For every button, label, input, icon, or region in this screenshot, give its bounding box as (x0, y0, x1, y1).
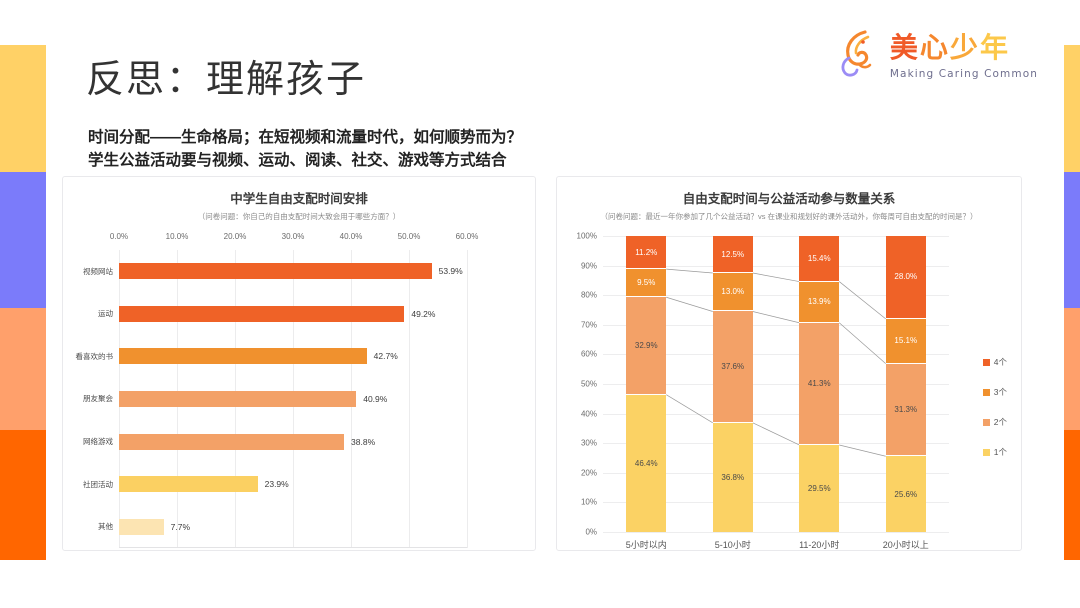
edge-block-1 (0, 45, 46, 172)
right-chart-segment: 11.2% (626, 236, 666, 269)
left-chart-category-label: 网络游戏 (83, 436, 113, 447)
legend-label: 1个 (994, 446, 1007, 458)
right-chart-subtitle: （问卷问题：最近一年你参加了几个公益活动？vs 在课业和规划好的课外活动外，你每… (557, 211, 1021, 222)
left-chart-rows: 视频网站53.9%运动49.2%看喜欢的书42.7%朋友聚会40.9%网络游戏3… (119, 250, 467, 548)
left-chart-category-label: 其他 (98, 521, 113, 532)
subtitle-line-2: 学生公益活动要与视频、运动、阅读、社交、游戏等方式结合 (88, 149, 522, 172)
left-chart-category-label: 视频网站 (83, 266, 113, 277)
right-chart-x-labels: 5小时以内5-10小时11-20小时20小时以上 (603, 538, 949, 551)
right-chart-ytick: 70% (581, 320, 597, 329)
left-chart-title: 中学生自由支配时间安排 (63, 188, 535, 207)
right-chart-segment: 37.6% (713, 311, 753, 422)
left-chart-xtick: 0.0% (110, 232, 128, 241)
flame-dragon-icon (835, 28, 883, 78)
left-chart-category-label: 看喜欢的书 (76, 351, 114, 362)
right-chart-segment: 13.0% (713, 273, 753, 311)
legend-label: 3个 (994, 386, 1007, 398)
right-chart-stacked-bar: 11.2%9.5%32.9%46.4% (626, 236, 666, 532)
right-chart-category-label: 20小时以上 (866, 538, 946, 551)
left-chart-value-label: 40.9% (363, 394, 387, 404)
legend-item-3个[interactable]: 3个 (983, 386, 1007, 398)
right-chart-category-label: 11-20小时 (779, 538, 859, 551)
legend-item-2个[interactable]: 2个 (983, 416, 1007, 428)
right-chart-gridline (603, 532, 949, 533)
right-chart-title: 自由支配时间与公益活动参与数量关系 (557, 188, 1021, 207)
right-chart-ytick: 30% (581, 439, 597, 448)
right-chart-segment: 29.5% (799, 445, 839, 532)
logo-char-3: 少 (950, 26, 979, 66)
left-chart-xtick: 50.0% (398, 232, 421, 241)
right-chart-segment: 31.3% (886, 364, 926, 457)
right-chart-segment: 28.0% (886, 236, 926, 319)
right-chart-category-label: 5小时以内 (606, 538, 686, 551)
right-chart-column: 15.4%13.9%41.3%29.5% (779, 236, 859, 532)
left-chart-bar (119, 348, 367, 364)
left-chart-bar (119, 476, 258, 492)
left-chart-bar-row: 视频网站53.9% (119, 250, 467, 293)
left-chart-subtitle: （问卷问题：你自己的自由支配时间大致会用于哪些方面？） (63, 211, 535, 222)
edge-block-3 (1064, 308, 1080, 430)
legend-label: 2个 (994, 416, 1007, 428)
right-chart-segment: 15.1% (886, 319, 926, 364)
edge-block-1 (1064, 45, 1080, 172)
left-chart-xtick: 20.0% (224, 232, 247, 241)
edge-block-2 (0, 172, 46, 308)
subtitle-line-1: 时间分配——生命格局；在短视频和流量时代，如何顺势而为？ (88, 126, 522, 149)
logo-char-2: 心 (920, 26, 949, 66)
right-chart-ytick: 0% (585, 528, 597, 537)
left-chart-value-label: 42.7% (374, 351, 398, 361)
edge-block-2 (1064, 172, 1080, 308)
page-subtitle: 时间分配——生命格局；在短视频和流量时代，如何顺势而为？ 学生公益活动要与视频、… (88, 126, 522, 172)
right-chart-bars: 11.2%9.5%32.9%46.4%12.5%13.0%37.6%36.8%1… (603, 236, 949, 532)
legend-swatch-icon (983, 419, 990, 426)
right-chart-stacked-bar: 15.4%13.9%41.3%29.5% (799, 236, 839, 532)
brand-logo: 美心少年 Making Caring Common (835, 26, 1038, 80)
legend-label: 4个 (994, 356, 1007, 368)
right-chart-stacked-bar: 12.5%13.0%37.6%36.8% (713, 236, 753, 532)
chart-card-time-allocation: 中学生自由支配时间安排 （问卷问题：你自己的自由支配时间大致会用于哪些方面？） … (62, 176, 536, 551)
logo-char-4: 年 (980, 26, 1009, 66)
right-chart-ytick: 60% (581, 350, 597, 359)
left-chart-bar (119, 306, 404, 322)
edge-block-3 (0, 308, 46, 430)
legend-swatch-icon (983, 359, 990, 366)
left-chart-gridline (467, 250, 468, 548)
right-chart-ytick: 10% (581, 498, 597, 507)
chart-card-participation: 自由支配时间与公益活动参与数量关系 （问卷问题：最近一年你参加了几个公益活动？v… (556, 176, 1022, 551)
left-chart-bar-row: 网络游戏38.8% (119, 420, 467, 463)
right-chart-bars-host: 11.2%9.5%32.9%46.4%12.5%13.0%37.6%36.8%1… (603, 236, 949, 532)
left-chart-value-label: 53.9% (439, 266, 463, 276)
legend-item-4个[interactable]: 4个 (983, 356, 1007, 368)
logo-char-1: 美 (890, 26, 919, 66)
right-chart-stacked-bar: 28.0%15.1%31.3%25.6% (886, 236, 926, 532)
right-chart-ytick: 50% (581, 380, 597, 389)
legend-swatch-icon (983, 449, 990, 456)
right-chart-segment: 46.4% (626, 395, 666, 532)
legend-swatch-icon (983, 389, 990, 396)
left-chart-value-label: 23.9% (265, 479, 289, 489)
right-chart-plot: 0%10%20%30%40%50%60%70%80%90%100% 11.2%9… (563, 230, 1011, 560)
page-title: 反思：理解孩子 (86, 48, 366, 103)
left-chart-plot: 0.0%10.0%20.0%30.0%40.0%50.0%60.0% 视频网站5… (67, 232, 523, 552)
edge-block-4 (1064, 430, 1080, 560)
right-chart-segment: 36.8% (713, 423, 753, 532)
right-chart-ytick: 20% (581, 468, 597, 477)
left-chart-bar-row: 看喜欢的书42.7% (119, 335, 467, 378)
logo-chinese: 美心少年 (890, 26, 1009, 66)
left-chart-bar (119, 391, 356, 407)
left-chart-value-label: 49.2% (411, 309, 435, 319)
right-chart-segment: 15.4% (799, 236, 839, 282)
right-chart-segment: 9.5% (626, 269, 666, 297)
right-chart-ytick: 90% (581, 261, 597, 270)
slide-root: 反思：理解孩子 时间分配——生命格局；在短视频和流量时代，如何顺势而为？ 学生公… (0, 0, 1080, 608)
left-chart-value-label: 38.8% (351, 437, 375, 447)
left-chart-xtick: 40.0% (340, 232, 363, 241)
left-chart-bar-row: 社团活动23.9% (119, 463, 467, 506)
left-chart-x-axis: 0.0%10.0%20.0%30.0%40.0%50.0%60.0% (119, 232, 467, 248)
right-chart-segment: 41.3% (799, 323, 839, 445)
left-chart-xtick: 60.0% (456, 232, 479, 241)
right-chart-ytick: 100% (577, 232, 597, 241)
right-chart-ytick: 80% (581, 291, 597, 300)
left-chart-value-label: 7.7% (171, 522, 190, 532)
logo-english: Making Caring Common (890, 68, 1038, 80)
left-chart-bar (119, 434, 344, 450)
left-chart-baseline (119, 547, 467, 548)
left-chart-grid: 视频网站53.9%运动49.2%看喜欢的书42.7%朋友聚会40.9%网络游戏3… (119, 250, 467, 548)
left-chart-bar-row: 朋友聚会40.9% (119, 378, 467, 421)
left-chart-category-label: 朋友聚会 (83, 393, 113, 404)
right-chart-legend: 4个3个2个1个 (983, 356, 1007, 458)
right-chart-segment: 12.5% (713, 236, 753, 273)
left-chart-xtick: 10.0% (166, 232, 189, 241)
right-chart-column: 12.5%13.0%37.6%36.8% (693, 236, 773, 532)
right-chart-column: 11.2%9.5%32.9%46.4% (606, 236, 686, 532)
left-chart-category-label: 运动 (98, 308, 113, 319)
left-chart-bar (119, 263, 432, 279)
left-chart-bar-row: 其他7.7% (119, 505, 467, 548)
right-chart-column: 28.0%15.1%31.3%25.6% (866, 236, 946, 532)
legend-item-1个[interactable]: 1个 (983, 446, 1007, 458)
left-chart-bar (119, 519, 164, 535)
right-chart-segment: 25.6% (886, 456, 926, 532)
left-chart-bar-row: 运动49.2% (119, 293, 467, 336)
left-chart-xtick: 30.0% (282, 232, 305, 241)
logo-text: 美心少年 Making Caring Common (890, 26, 1038, 80)
right-chart-segment: 13.9% (799, 282, 839, 323)
right-chart-segment: 32.9% (626, 297, 666, 394)
right-chart-ytick: 40% (581, 409, 597, 418)
edge-block-4 (0, 430, 46, 560)
right-chart-category-label: 5-10小时 (693, 538, 773, 551)
left-chart-category-label: 社团活动 (83, 479, 113, 490)
